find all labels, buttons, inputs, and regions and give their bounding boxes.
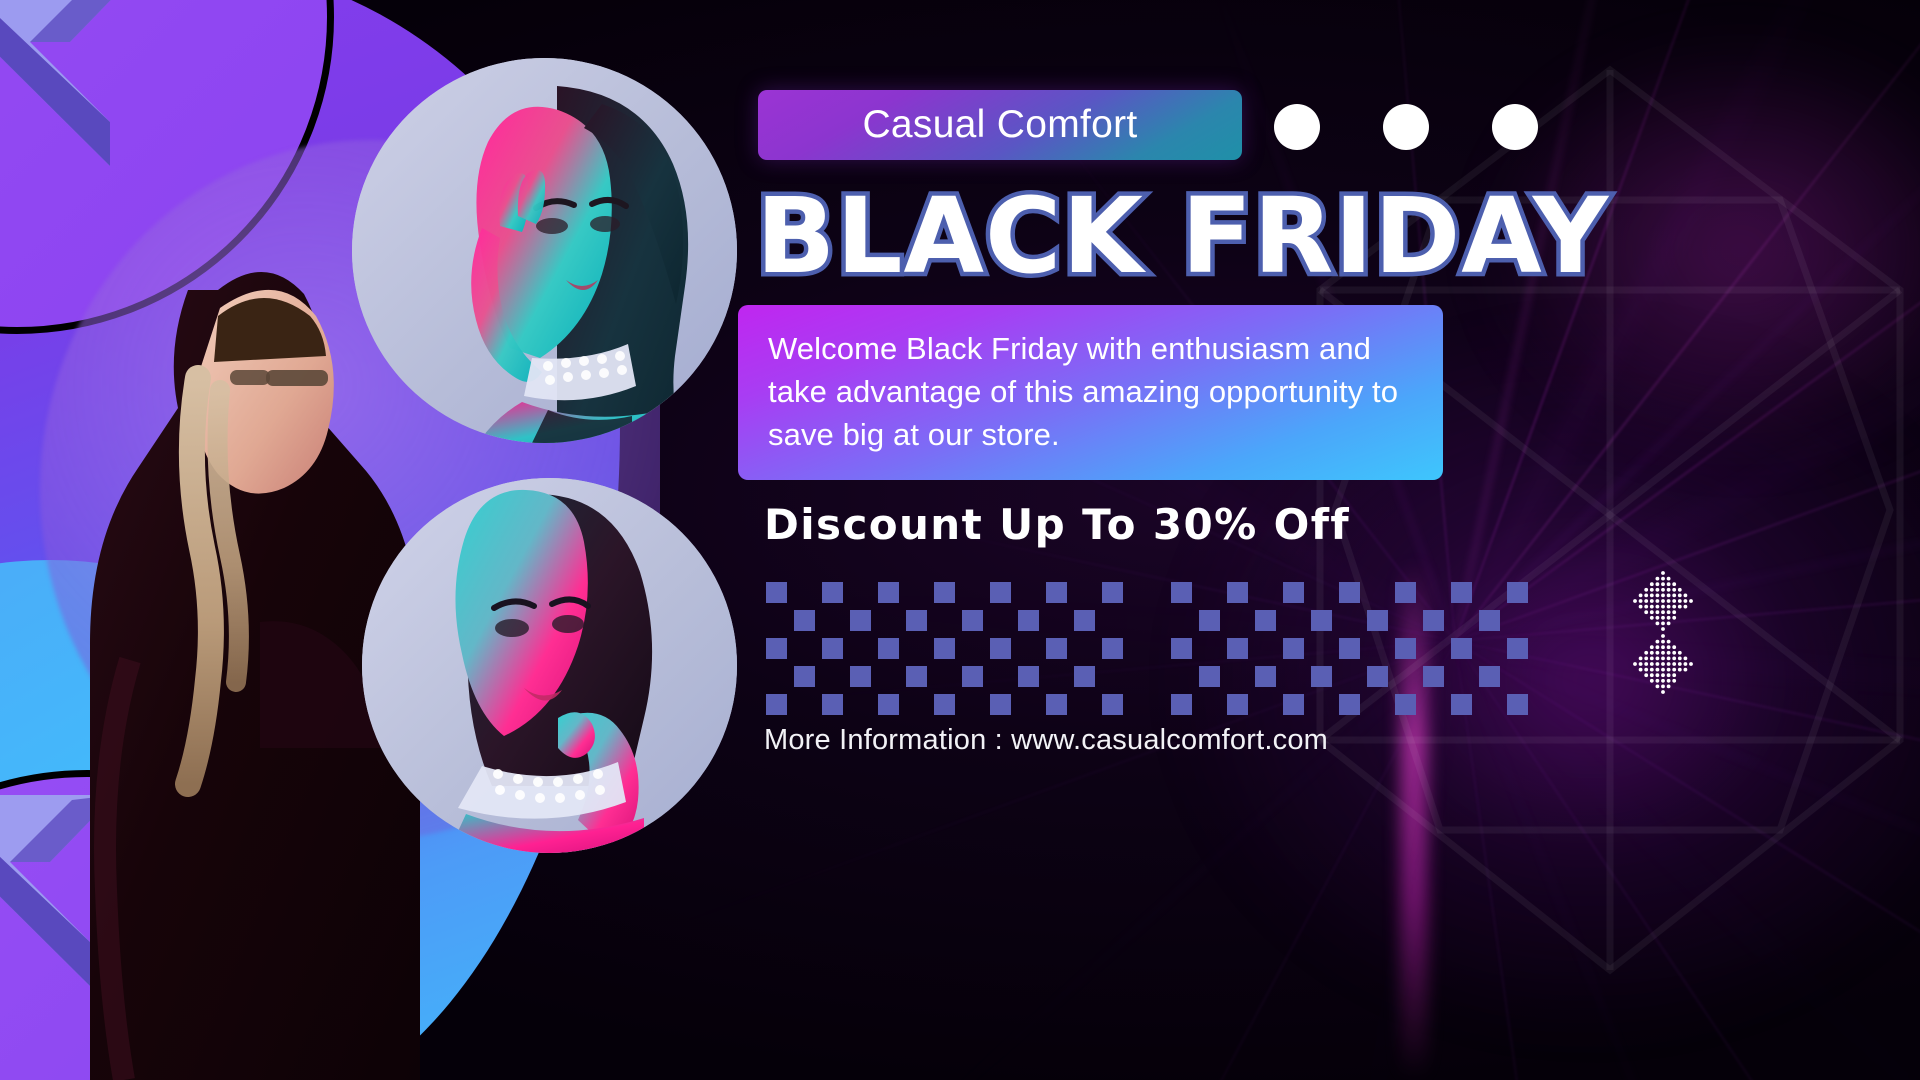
checker-square (1199, 610, 1220, 631)
checker-square (1255, 610, 1276, 631)
checker-square (850, 666, 871, 687)
checker-square (990, 610, 1011, 631)
checker-square (1255, 694, 1276, 715)
checker-square (850, 694, 871, 715)
checker-grid-right (1171, 582, 1528, 715)
checker-square (1046, 610, 1067, 631)
checker-square (1339, 582, 1360, 603)
checker-square (1046, 694, 1067, 715)
checker-square (906, 582, 927, 603)
content-column: Casual Comfort BLACK FRIDAY Welcome Blac… (758, 0, 1898, 1080)
checker-square (794, 694, 815, 715)
checker-square (1451, 582, 1472, 603)
dot-indicator-row (1274, 104, 1538, 150)
checker-square (1479, 638, 1500, 659)
checker-square (962, 638, 983, 659)
checker-square (1283, 694, 1304, 715)
checker-square (1479, 610, 1500, 631)
checker-square (1227, 582, 1248, 603)
checker-square (1074, 638, 1095, 659)
checker-square (990, 666, 1011, 687)
checker-square (1395, 694, 1416, 715)
checker-square (1311, 694, 1332, 715)
checker-square (1227, 610, 1248, 631)
checker-square (1018, 666, 1039, 687)
checker-square (1395, 610, 1416, 631)
checker-square (1423, 694, 1444, 715)
checker-square (794, 666, 815, 687)
checker-square (1507, 638, 1528, 659)
checker-square (906, 610, 927, 631)
dot-indicator-1[interactable] (1274, 104, 1320, 150)
checker-square (1255, 638, 1276, 659)
checker-square (1423, 582, 1444, 603)
checker-square (1227, 666, 1248, 687)
checker-square (1018, 582, 1039, 603)
checker-square (1311, 610, 1332, 631)
chevron-triangle-icon-top (0, 0, 190, 200)
checker-square (1018, 610, 1039, 631)
checker-square (962, 610, 983, 631)
checker-square (1102, 694, 1123, 715)
checker-square (766, 666, 787, 687)
checker-square (934, 666, 955, 687)
checker-grid-left (766, 582, 1123, 715)
photo-circle-top (352, 58, 737, 443)
checker-square (1479, 694, 1500, 715)
checker-square (990, 638, 1011, 659)
checker-square (1311, 582, 1332, 603)
photo-circle-bottom (362, 478, 737, 853)
model-portrait-bottom (362, 478, 737, 853)
checker-square (850, 638, 871, 659)
checker-square (906, 638, 927, 659)
discount-headline: Discount Up To 30% Off (764, 500, 1350, 549)
checker-square (1018, 638, 1039, 659)
checker-square (1423, 638, 1444, 659)
checker-square (822, 694, 843, 715)
checker-square (1102, 610, 1123, 631)
checker-square (1395, 666, 1416, 687)
checker-square (1171, 638, 1192, 659)
checker-square (1367, 694, 1388, 715)
page-title: BLACK FRIDAY (756, 182, 1896, 291)
checker-square (962, 582, 983, 603)
checker-square (1074, 582, 1095, 603)
checker-square (962, 666, 983, 687)
checker-square (934, 582, 955, 603)
checker-square (878, 638, 899, 659)
checker-square (850, 610, 871, 631)
checker-square (1171, 666, 1192, 687)
checker-square (1046, 582, 1067, 603)
brand-badge[interactable]: Casual Comfort (758, 90, 1242, 160)
checker-square (1367, 582, 1388, 603)
checker-square (1367, 666, 1388, 687)
checker-square (1339, 694, 1360, 715)
checker-square (1227, 694, 1248, 715)
checker-square (1395, 638, 1416, 659)
checker-square (822, 610, 843, 631)
checker-square (794, 610, 815, 631)
dotted-diamond-ornament-icon (1608, 568, 1718, 698)
checker-square (878, 666, 899, 687)
description-box: Welcome Black Friday with enthusiasm and… (738, 305, 1443, 480)
checker-square (1451, 638, 1472, 659)
checker-square (1074, 694, 1095, 715)
checker-square (1046, 638, 1067, 659)
checker-square (1171, 610, 1192, 631)
checker-square (906, 694, 927, 715)
checker-square (1507, 610, 1528, 631)
checker-square (990, 582, 1011, 603)
checker-square (1102, 638, 1123, 659)
checker-square (1451, 610, 1472, 631)
checker-square (1074, 610, 1095, 631)
checker-square (934, 610, 955, 631)
checker-square (794, 582, 815, 603)
checker-square (1339, 610, 1360, 631)
checker-square (1255, 582, 1276, 603)
checker-square (766, 582, 787, 603)
checker-pattern-group (766, 582, 1528, 715)
checker-square (1199, 582, 1220, 603)
checker-square (1507, 694, 1528, 715)
checker-square (1074, 666, 1095, 687)
checker-square (934, 638, 955, 659)
checker-square (1479, 582, 1500, 603)
checker-square (1018, 694, 1039, 715)
checker-square (1451, 666, 1472, 687)
black-friday-promo-banner: Casual Comfort BLACK FRIDAY Welcome Blac… (0, 0, 1920, 1080)
dot-indicator-3[interactable] (1492, 104, 1538, 150)
checker-square (878, 582, 899, 603)
checker-square (1423, 610, 1444, 631)
checker-square (850, 582, 871, 603)
checker-square (1367, 610, 1388, 631)
brand-badge-label: Casual Comfort (862, 103, 1137, 147)
checker-square (1451, 694, 1472, 715)
checker-square (1283, 638, 1304, 659)
checker-square (1311, 638, 1332, 659)
model-portrait-top (352, 58, 737, 443)
checker-square (766, 638, 787, 659)
checker-square (822, 638, 843, 659)
checker-square (1423, 666, 1444, 687)
checker-square (1171, 694, 1192, 715)
checker-square (1227, 638, 1248, 659)
checker-square (1283, 666, 1304, 687)
checker-square (1102, 582, 1123, 603)
checker-square (1171, 582, 1192, 603)
checker-square (822, 582, 843, 603)
checker-square (1283, 610, 1304, 631)
checker-square (906, 666, 927, 687)
checker-square (1046, 666, 1067, 687)
checker-square (934, 694, 955, 715)
checker-square (1395, 582, 1416, 603)
checker-square (990, 694, 1011, 715)
checker-square (766, 694, 787, 715)
checker-square (962, 694, 983, 715)
checker-square (878, 610, 899, 631)
checker-square (1367, 638, 1388, 659)
more-information-text: More Information : www.casualcomfort.com (764, 724, 1328, 757)
checker-square (1199, 666, 1220, 687)
checker-square (766, 610, 787, 631)
checker-square (1339, 666, 1360, 687)
checker-square (794, 638, 815, 659)
dot-indicator-2[interactable] (1383, 104, 1429, 150)
checker-square (1479, 666, 1500, 687)
checker-square (1283, 582, 1304, 603)
checker-square (822, 666, 843, 687)
checker-square (878, 694, 899, 715)
checker-square (1507, 666, 1528, 687)
checker-square (1199, 694, 1220, 715)
description-text: Welcome Black Friday with enthusiasm and… (738, 328, 1443, 456)
checker-square (1199, 638, 1220, 659)
checker-square (1255, 666, 1276, 687)
checker-square (1339, 638, 1360, 659)
checker-square (1507, 582, 1528, 603)
checker-square (1311, 666, 1332, 687)
checker-square (1102, 666, 1123, 687)
